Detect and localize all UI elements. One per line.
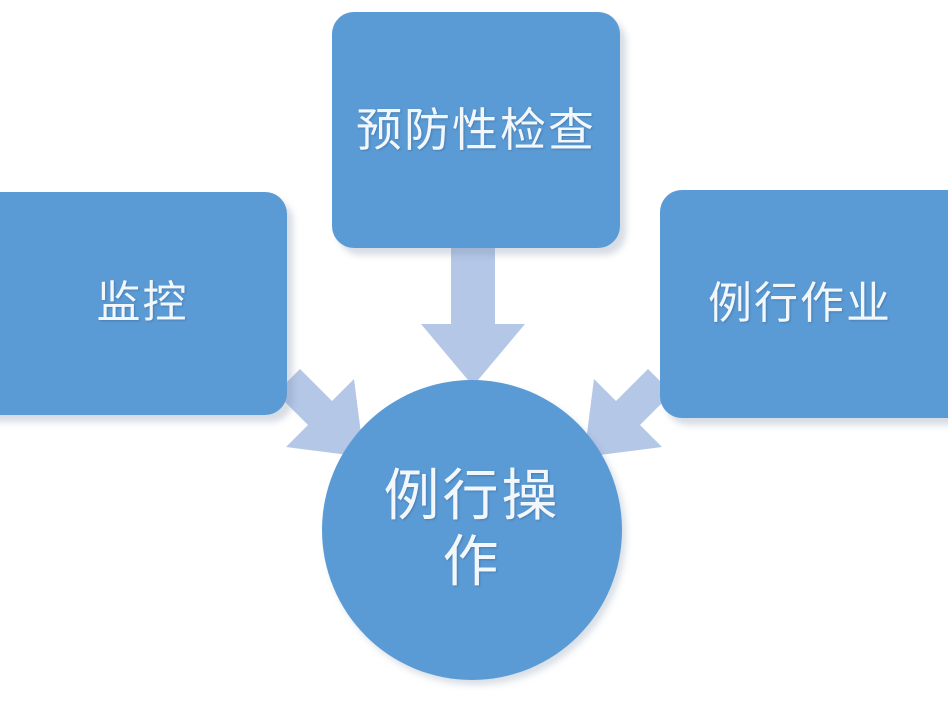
node-label-routine-jobs: 例行作业 <box>708 279 922 330</box>
node-monitoring[interactable]: 监控 <box>0 192 287 415</box>
node-label-preventive-inspection: 预防性检查 <box>356 104 596 157</box>
arrow-down-icon <box>421 248 525 386</box>
node-preventive-inspection[interactable]: 预防性检查 <box>332 12 620 248</box>
node-routine-jobs[interactable]: 例行作业 <box>660 190 948 418</box>
node-label-monitoring: 监控 <box>67 278 189 329</box>
node-routine-operations[interactable]: 例行操 作 <box>322 380 622 680</box>
diagram-canvas: 预防性检查 监控 例行作业 例行操 作 <box>0 0 948 705</box>
node-label-routine-operations: 例行操 作 <box>384 464 561 596</box>
